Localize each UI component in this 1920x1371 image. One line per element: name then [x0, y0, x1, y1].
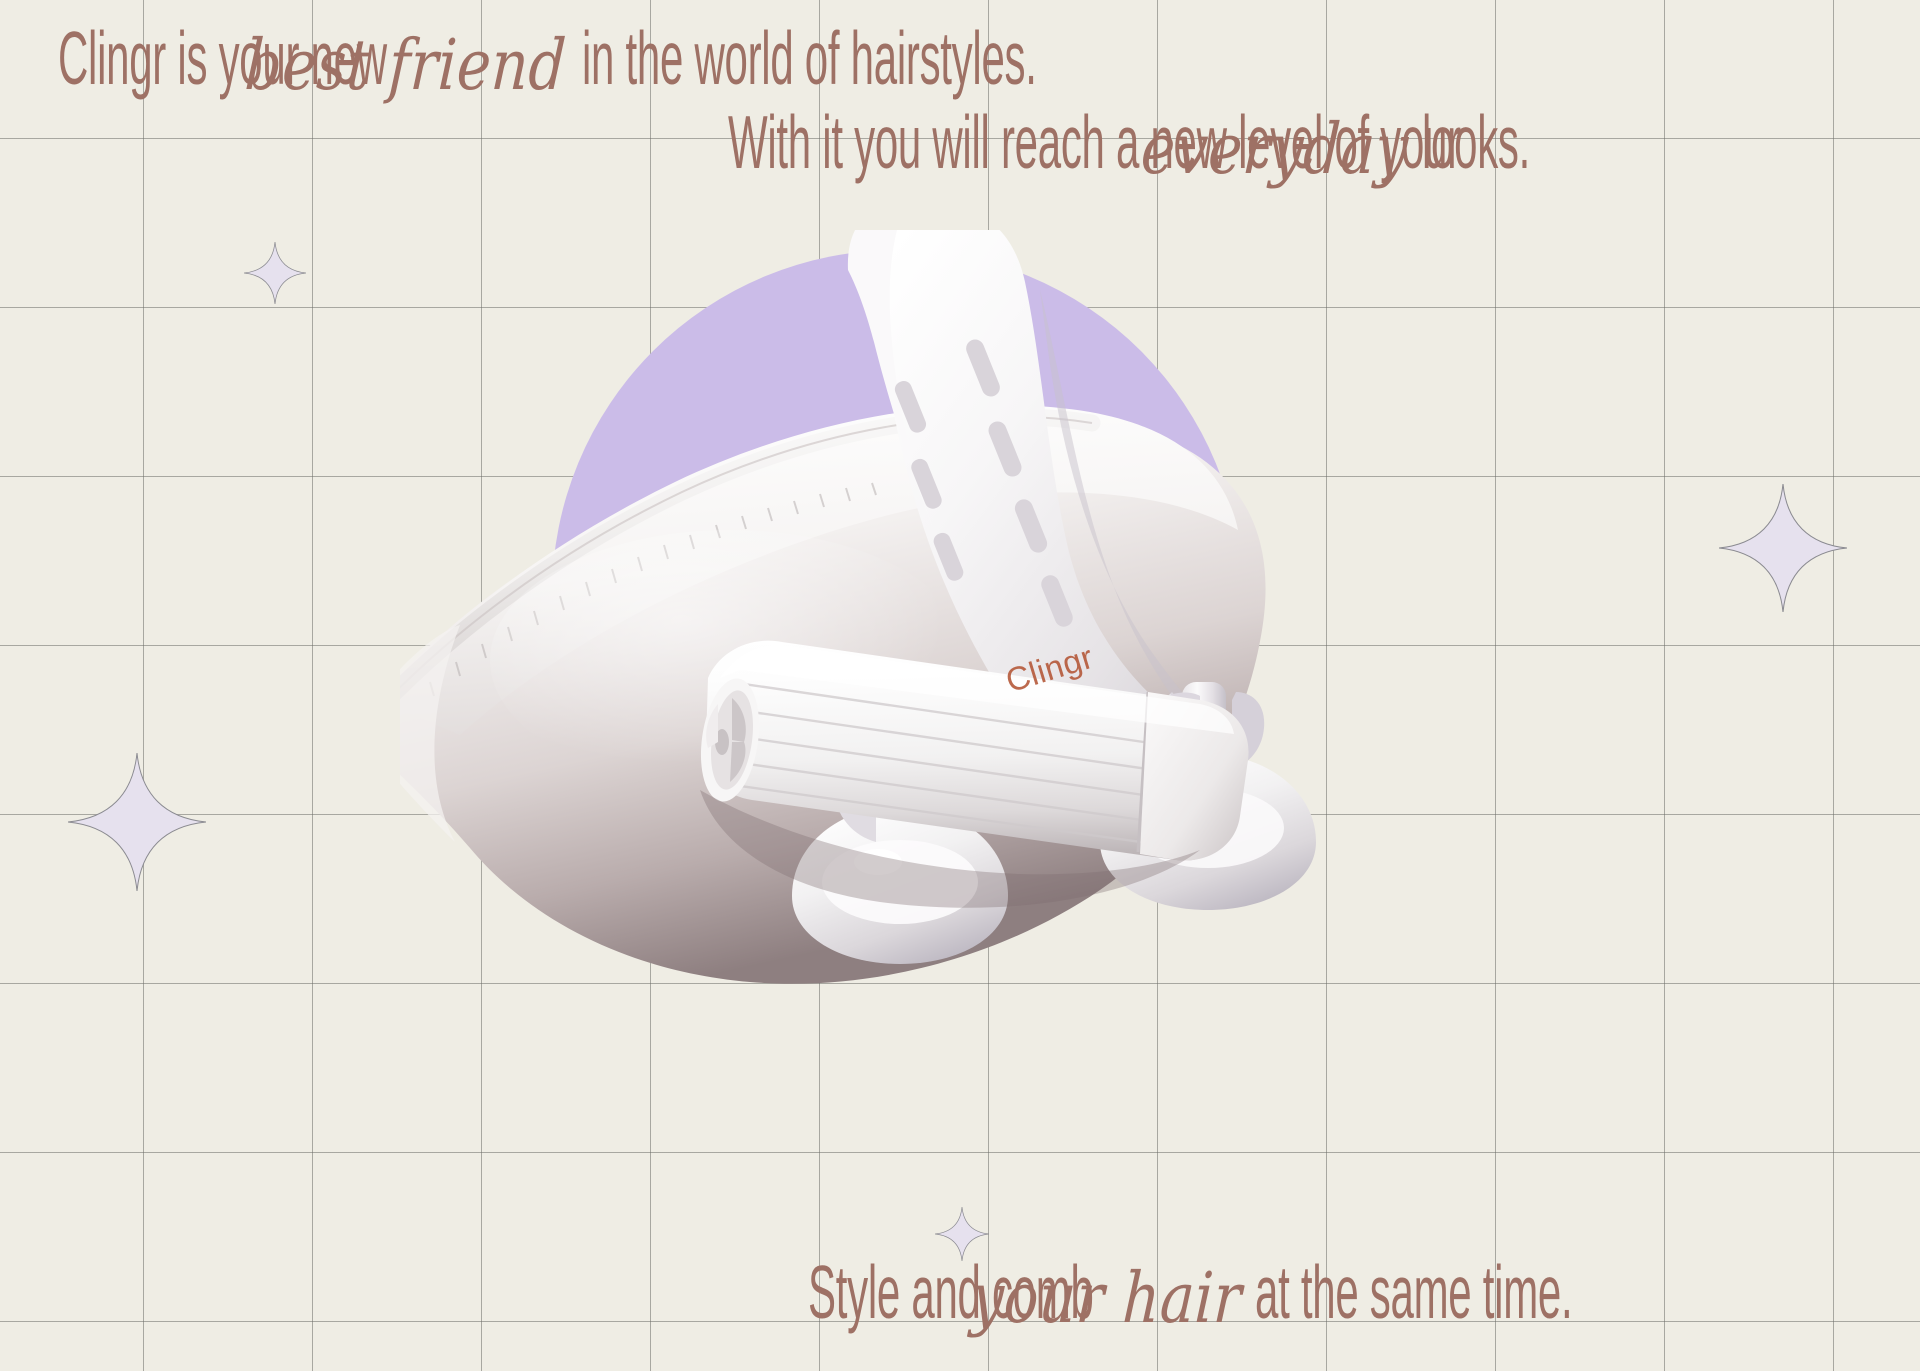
headline-line-2: With it you will reach a new level of yo… — [28, 106, 1892, 184]
headline-line1-part2: in the world of hairstyles. — [582, 22, 1037, 96]
sparkle-icon — [1719, 484, 1847, 612]
sparkle-icon — [68, 753, 206, 891]
headline: Clingr is your newbest friendin the worl… — [0, 22, 1920, 184]
poster-canvas: Clingr Clingr is your newbest friendin t… — [0, 0, 1920, 1371]
caption-part2: at the same time. — [1255, 1255, 1572, 1330]
caption: Style and combyour hairat the same time. — [0, 1255, 1920, 1333]
caption-script: your hair — [966, 1263, 1247, 1333]
headline-line-1: Clingr is your newbest friendin the worl… — [28, 22, 1892, 100]
headline-line1-script: best friend — [240, 31, 571, 100]
headline-line2-part2: looks. — [1422, 106, 1530, 180]
headline-line2-script: everyday — [1136, 115, 1413, 184]
sparkle-icon — [244, 242, 306, 304]
